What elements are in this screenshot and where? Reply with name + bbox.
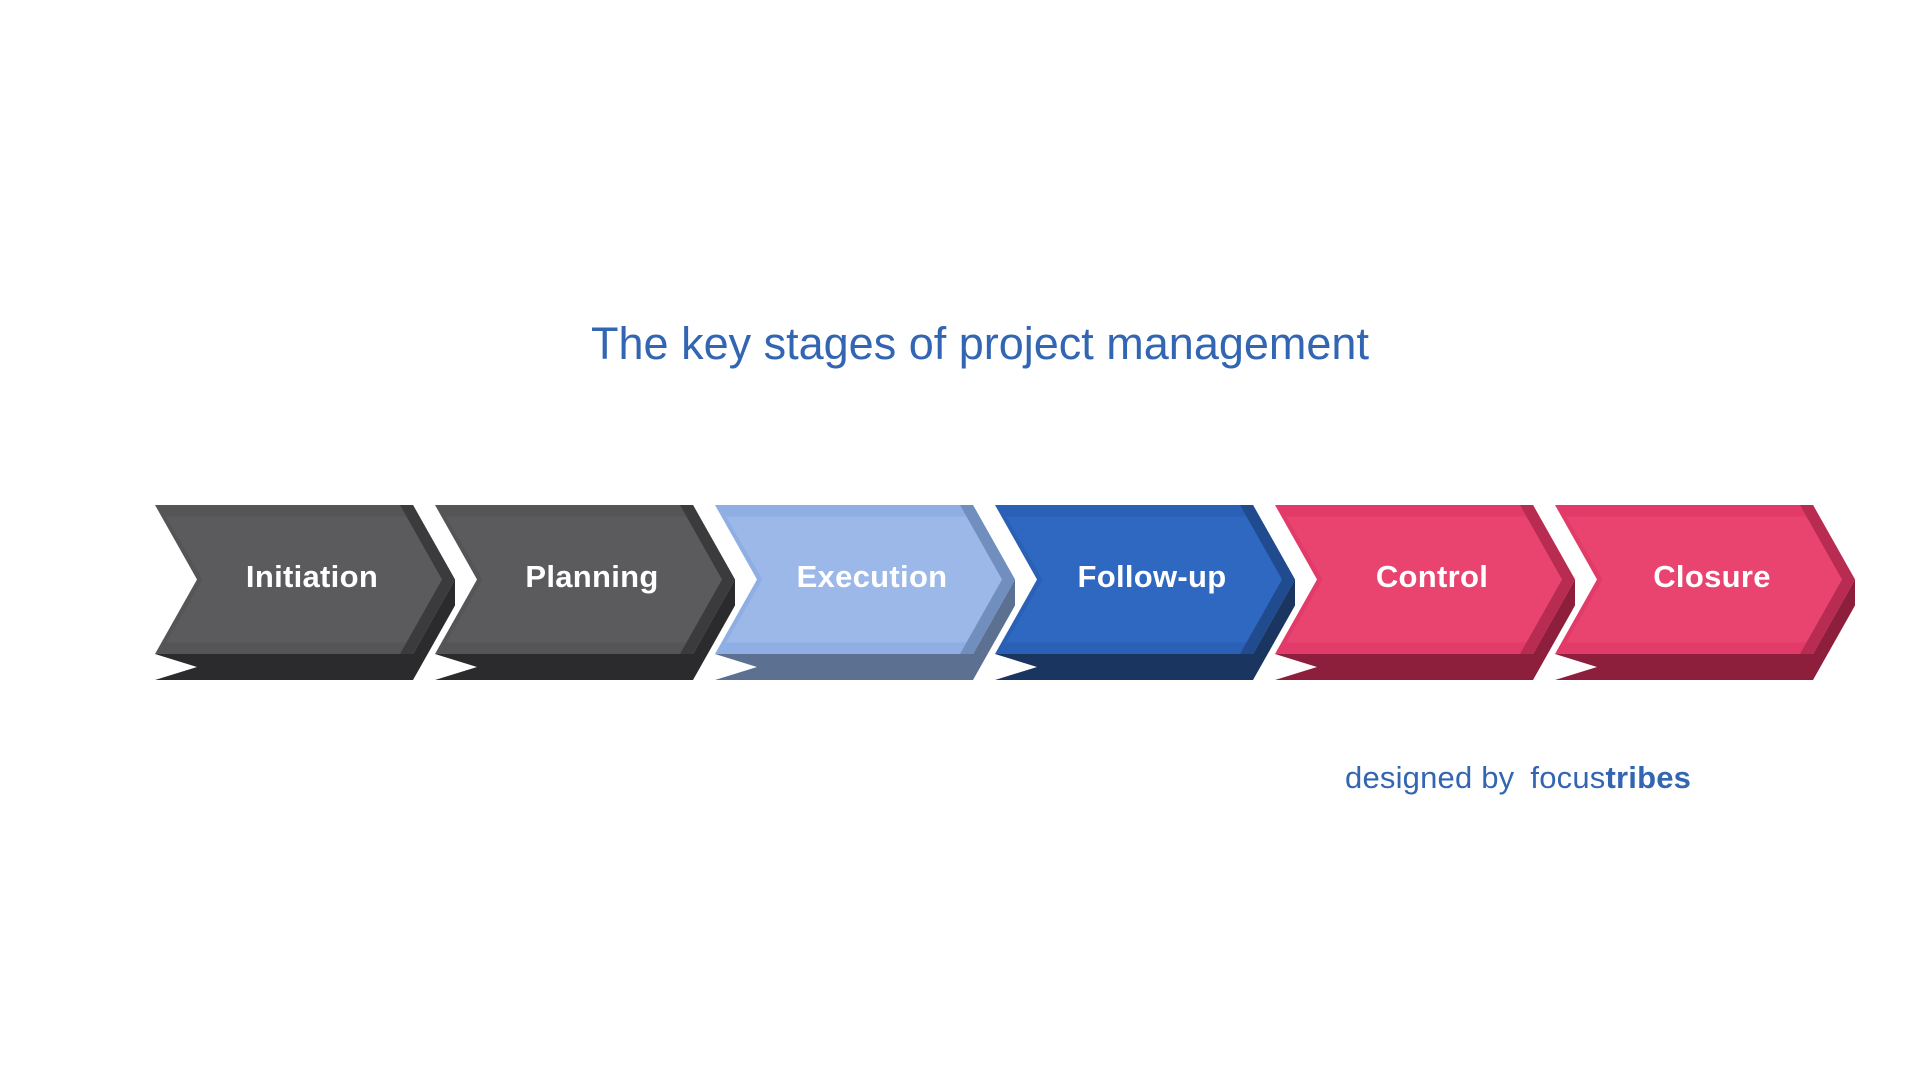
chevron-inner-face: [1286, 516, 1565, 642]
brand-focus-text: focus: [1530, 760, 1605, 795]
chevron-stage-follow-up[interactable]: Follow-up: [995, 505, 1295, 680]
chevron-inner-face: [446, 516, 725, 642]
chevron-stage-planning[interactable]: Planning: [435, 505, 735, 680]
footer-credit: designed byfocustribes: [1345, 760, 1691, 796]
chevron-shape: [155, 505, 455, 680]
brand-tribes-text: tribes: [1606, 760, 1692, 795]
chevron-inner-face: [166, 516, 445, 642]
page-title-wrapper: The key stages of project management: [480, 318, 1480, 370]
chevron-shape: [715, 505, 1015, 680]
chevron-shape: [1555, 505, 1855, 680]
chevron-inner-face: [1566, 516, 1845, 642]
process-chevron-diagram: InitiationPlanningExecutionFollow-upCont…: [155, 505, 1845, 680]
page-title: The key stages of project management: [480, 318, 1480, 370]
chevron-inner-face: [1006, 516, 1285, 642]
brand-focustribes: focustribes: [1530, 760, 1691, 795]
chevron-stage-execution[interactable]: Execution: [715, 505, 1015, 680]
chevron-inner-face: [726, 516, 1005, 642]
chevron-shape: [995, 505, 1295, 680]
footer-designed-by-label: designed by: [1345, 760, 1514, 795]
chevron-shape: [1275, 505, 1575, 680]
chevron-stage-control[interactable]: Control: [1275, 505, 1575, 680]
chevron-stage-initiation[interactable]: Initiation: [155, 505, 455, 680]
chevron-shape: [435, 505, 735, 680]
chevron-stage-closure[interactable]: Closure: [1555, 505, 1855, 680]
